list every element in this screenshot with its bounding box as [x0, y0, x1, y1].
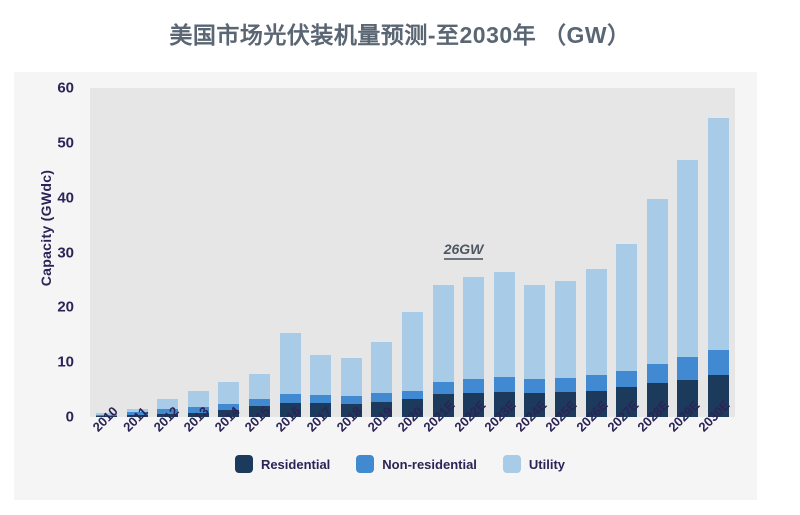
bar-column[interactable] [310, 88, 331, 417]
bar-segment-non-residential [677, 357, 698, 379]
bar-column[interactable] [402, 88, 423, 417]
bar-segment-utility [433, 285, 454, 382]
x-axis-tick-wrap: 2018 [341, 422, 362, 482]
page-title: 美国市场光伏装机量预测-至2030年 （GW） [0, 16, 800, 50]
bar-segment-non-residential [463, 379, 484, 393]
bar-column[interactable] [586, 88, 607, 417]
bar-segment-non-residential [555, 378, 576, 392]
bar-segment-non-residential [708, 350, 729, 376]
x-axis-tick-wrap: 2014 [218, 422, 239, 482]
x-axis-tick-wrap: 2011 [127, 422, 148, 482]
x-axis-tick-wrap: 2013 [188, 422, 209, 482]
bar-group [90, 88, 735, 417]
bar-segment-utility [402, 312, 423, 391]
bar-segment-non-residential [402, 391, 423, 400]
x-axis-tick-wrap: 2029E [677, 422, 698, 482]
x-axis-tick-wrap: 2021E [433, 422, 454, 482]
bar-column[interactable] [280, 88, 301, 417]
x-axis-tick-wrap: 2019 [371, 422, 392, 482]
legend-swatch-icon [503, 455, 521, 473]
bar-segment-non-residential [280, 394, 301, 403]
bar-segment-utility [371, 342, 392, 394]
bar-segment-utility [647, 199, 668, 365]
x-axis-tick-wrap: 2016 [280, 422, 301, 482]
bar-segment-non-residential [494, 377, 515, 392]
x-axis-tick-wrap: 2017 [310, 422, 331, 482]
legend-swatch-icon [356, 455, 374, 473]
bar-segment-utility [677, 160, 698, 357]
bar-segment-utility [555, 281, 576, 378]
bar-segment-utility [616, 244, 637, 371]
legend-swatch-icon [235, 455, 253, 473]
bar-segment-utility [188, 391, 209, 407]
bar-segment-utility [708, 118, 729, 349]
bar-segment-utility [463, 277, 484, 378]
bar-column[interactable] [157, 88, 178, 417]
bar-column[interactable] [494, 88, 515, 417]
bar-segment-non-residential [586, 375, 607, 390]
bar-column[interactable] [555, 88, 576, 417]
bar-segment-utility [524, 285, 545, 378]
bar-column[interactable] [524, 88, 545, 417]
bar-column[interactable] [96, 88, 117, 417]
bar-segment-non-residential [616, 371, 637, 387]
bar-segment-non-residential [341, 396, 362, 404]
bar-column[interactable] [647, 88, 668, 417]
legend-label: Utility [529, 457, 565, 472]
legend-label: Residential [261, 457, 330, 472]
bar-segment-utility [586, 269, 607, 375]
x-axis-tick-wrap: 2015 [249, 422, 270, 482]
x-axis-tick-wrap: 2026E [586, 422, 607, 482]
bar-column[interactable] [127, 88, 148, 417]
bar-segment-non-residential [371, 393, 392, 401]
annotation-26gw: 26GW [444, 241, 484, 260]
bar-segment-utility [249, 374, 270, 399]
legend-item-nonresidential[interactable]: Non-residential [356, 455, 477, 473]
x-axis-tick-wrap: 2023E [494, 422, 515, 482]
bar-segment-utility [341, 358, 362, 396]
bar-segment-utility [494, 272, 515, 377]
x-axis-labels: 2010201120122013201420152016201720182019… [90, 422, 735, 482]
bar-column[interactable] [249, 88, 270, 417]
x-axis-tick-wrap: 2024E [524, 422, 545, 482]
y-axis-tick: 10 [28, 354, 74, 371]
x-axis-tick-wrap: 2012 [157, 422, 178, 482]
bar-segment-non-residential [647, 364, 668, 383]
x-axis-tick-wrap: 2020 [402, 422, 423, 482]
legend-item-utility[interactable]: Utility [503, 455, 565, 473]
x-axis-tick-wrap: 2010 [96, 422, 117, 482]
bar-column[interactable] [188, 88, 209, 417]
x-axis-tick-wrap: 2022E [463, 422, 484, 482]
bar-column[interactable] [677, 88, 698, 417]
x-axis-tick-wrap: 2028E [647, 422, 668, 482]
bar-column[interactable] [616, 88, 637, 417]
bar-column[interactable] [371, 88, 392, 417]
bar-segment-utility [280, 333, 301, 394]
y-axis-title: Capacity (GWdc) [38, 118, 54, 338]
bar-segment-non-residential [433, 382, 454, 394]
bar-column[interactable] [218, 88, 239, 417]
legend-label: Non-residential [382, 457, 477, 472]
chart-card: 0102030405060 Capacity (GWdc) 26GW 20102… [14, 72, 757, 500]
y-axis-tick: 60 [28, 80, 74, 97]
bar-segment-utility [218, 382, 239, 404]
bar-column[interactable] [341, 88, 362, 417]
y-axis-tick: 0 [28, 409, 74, 426]
bar-segment-non-residential [524, 379, 545, 394]
plot-area: 26GW [90, 88, 735, 417]
bar-segment-utility [310, 355, 331, 394]
x-axis-tick-wrap: 2025E [555, 422, 576, 482]
x-axis-tick-wrap: 2027E [616, 422, 637, 482]
x-axis-tick-wrap: 2030E [708, 422, 729, 482]
bar-column[interactable] [708, 88, 729, 417]
bar-segment-non-residential [310, 395, 331, 404]
legend-item-residential[interactable]: Residential [235, 455, 330, 473]
chart-legend: ResidentialNon-residentialUtility [0, 455, 800, 473]
